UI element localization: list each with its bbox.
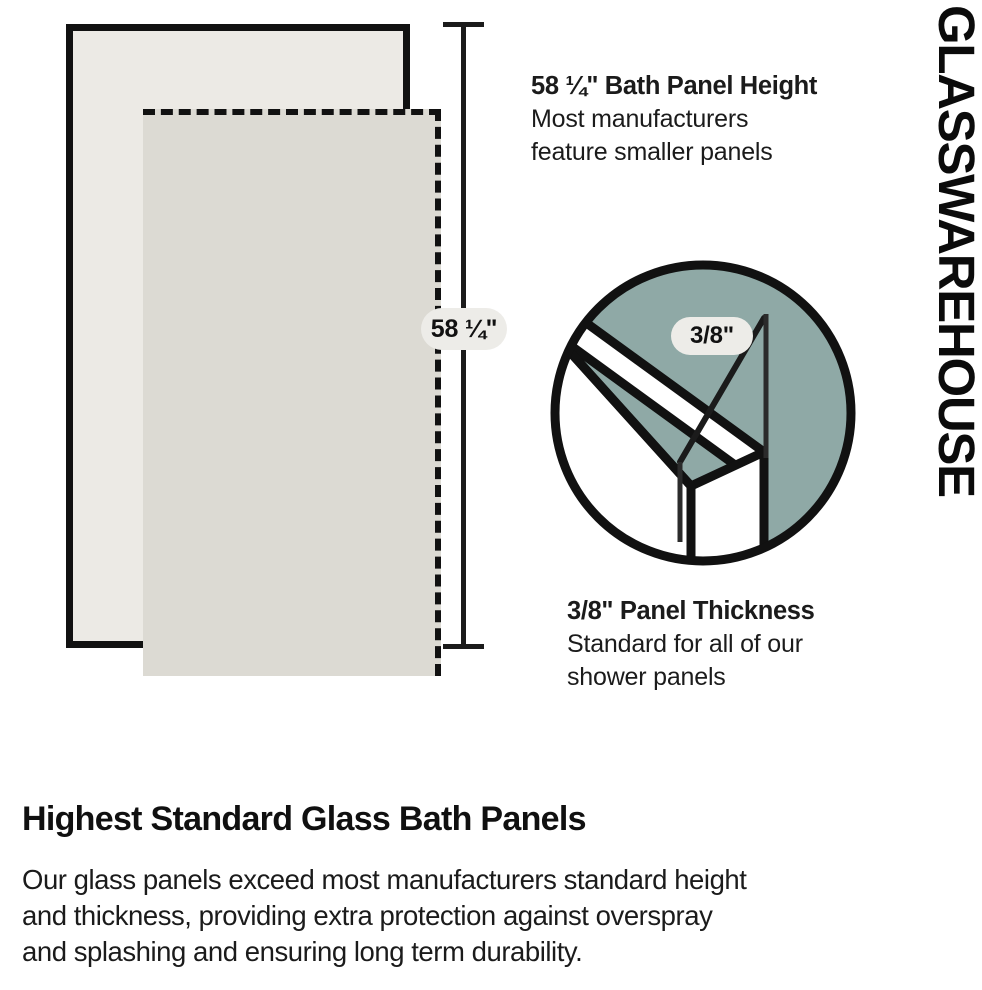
description-paragraph: Our glass panels exceed most manufacture… (22, 862, 882, 969)
callout-height-body-line-2: feature smaller panels (531, 136, 817, 169)
callout-panel-thickness: 3/8" Panel Thickness Standard for all of… (567, 597, 814, 694)
description-line-1: Our glass panels exceed most manufacture… (22, 862, 882, 898)
bath-panel-dashed-region (143, 109, 441, 676)
infographic-canvas: 58 ¼" 58 ¼" Bath Panel Height Most manuf… (0, 0, 982, 990)
description-line-3: and splashing and ensuring long term dur… (22, 934, 882, 970)
panel-thickness-diagram (546, 256, 860, 570)
description-line-2: and thickness, providing extra protectio… (22, 898, 882, 934)
callout-thickness-body: Standard for all of our shower panels (567, 628, 814, 694)
callout-bath-panel-height: 58 ¼" Bath Panel Height Most manufacture… (531, 72, 817, 169)
brand-wordmark: GLASSWAREHOUSE (916, 5, 982, 225)
callout-thickness-title: 3/8" Panel Thickness (567, 597, 814, 626)
callout-thickness-body-line-1: Standard for all of our (567, 628, 814, 661)
copyright-notice: © 2022 Future Glass All Rights Reserved (978, 795, 982, 965)
callout-thickness-body-line-2: shower panels (567, 661, 814, 694)
thickness-dimension-label: 3/8" (671, 317, 753, 355)
height-dimension-label: 58 ¼" (421, 308, 507, 350)
dimension-tick-bottom-icon (443, 644, 484, 649)
bath-panel-outline (66, 24, 410, 648)
callout-height-title: 58 ¼" Bath Panel Height (531, 72, 817, 101)
callout-height-body-line-1: Most manufacturers (531, 103, 817, 136)
page-title: Highest Standard Glass Bath Panels (22, 800, 586, 839)
callout-height-body: Most manufacturers feature smaller panel… (531, 103, 817, 169)
